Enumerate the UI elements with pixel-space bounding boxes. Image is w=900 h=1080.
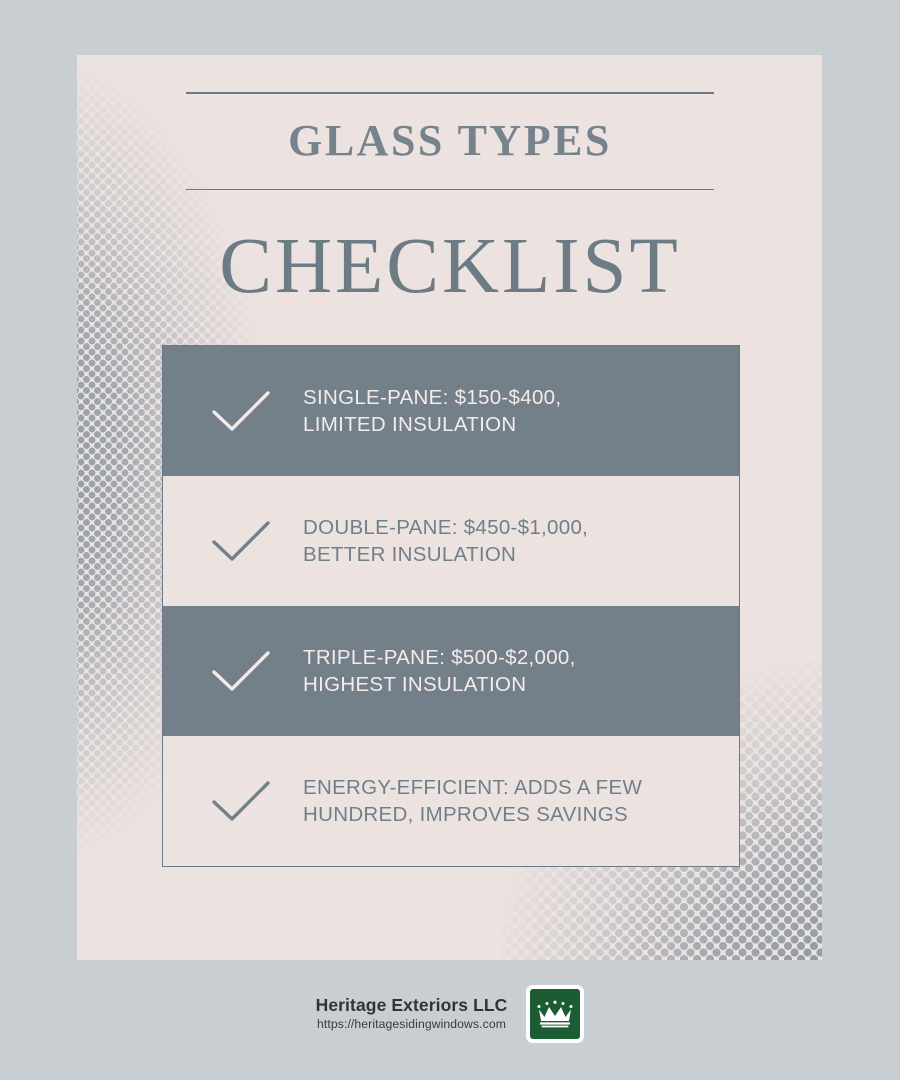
- checklist-item-1[interactable]: SINGLE-PANE: $150-$400, LIMITED INSULATI…: [163, 346, 739, 476]
- checklist-item-line1: SINGLE-PANE: $150-$400,: [303, 384, 561, 411]
- brand-logo: [526, 985, 584, 1043]
- page-title: CHECKLIST: [186, 190, 714, 306]
- brand-url[interactable]: https://heritagesidingwindows.com: [316, 1016, 508, 1033]
- infographic-card: GLASS TYPES CHECKLIST SINGLE-PANE: $150-…: [77, 55, 822, 960]
- checklist: SINGLE-PANE: $150-$400, LIMITED INSULATI…: [162, 345, 740, 867]
- checklist-item-text: ENERGY-EFFICIENT: ADDS A FEW HUNDRED, IM…: [303, 774, 642, 828]
- checklist-item-line2: LIMITED INSULATION: [303, 411, 561, 438]
- checklist-item-line1: DOUBLE-PANE: $450-$1,000,: [303, 514, 588, 541]
- checklist-item-line2: HIGHEST INSULATION: [303, 671, 576, 698]
- checklist-item-line2: HUNDRED, IMPROVES SAVINGS: [303, 801, 642, 828]
- checklist-item-line1: TRIPLE-PANE: $500-$2,000,: [303, 644, 576, 671]
- check-icon: [207, 385, 275, 437]
- checklist-item-line1: ENERGY-EFFICIENT: ADDS A FEW: [303, 774, 642, 801]
- checklist-item-4[interactable]: ENERGY-EFFICIENT: ADDS A FEW HUNDRED, IM…: [163, 736, 739, 866]
- check-icon: [207, 645, 275, 697]
- brand-block: Heritage Exteriors LLC https://heritages…: [316, 995, 508, 1034]
- card-header: GLASS TYPES CHECKLIST: [186, 92, 714, 306]
- checklist-item-2[interactable]: DOUBLE-PANE: $450-$1,000, BETTER INSULAT…: [163, 476, 739, 606]
- crown-icon: [535, 999, 575, 1029]
- checklist-item-text: DOUBLE-PANE: $450-$1,000, BETTER INSULAT…: [303, 514, 588, 568]
- check-icon: [207, 775, 275, 827]
- checklist-item-3[interactable]: TRIPLE-PANE: $500-$2,000, HIGHEST INSULA…: [163, 606, 739, 736]
- brand-name: Heritage Exteriors LLC: [316, 995, 508, 1017]
- checklist-item-line2: BETTER INSULATION: [303, 541, 588, 568]
- check-icon: [207, 515, 275, 567]
- footer: Heritage Exteriors LLC https://heritages…: [0, 985, 900, 1043]
- checklist-item-text: TRIPLE-PANE: $500-$2,000, HIGHEST INSULA…: [303, 644, 576, 698]
- eyebrow-title: GLASS TYPES: [186, 94, 714, 189]
- checklist-item-text: SINGLE-PANE: $150-$400, LIMITED INSULATI…: [303, 384, 561, 438]
- logo-tile: [530, 989, 580, 1039]
